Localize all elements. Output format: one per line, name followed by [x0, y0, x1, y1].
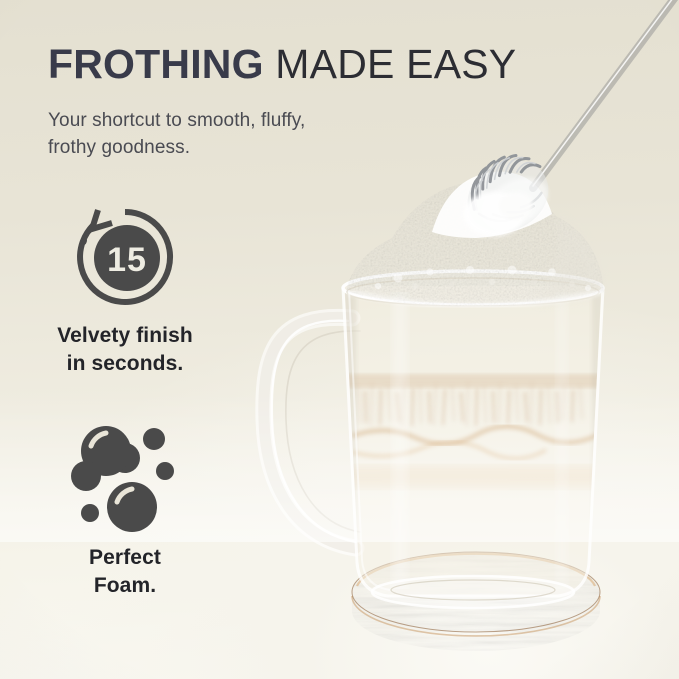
promo-banner: FROTHING MADE EASY Your shortcut to smoo… [0, 0, 679, 679]
subtitle: Your shortcut to smooth, fluffy, frothy … [48, 108, 305, 162]
timer-badge-value: 15 [107, 241, 147, 279]
feature-speed-caption: Velvety finish in seconds. [20, 322, 230, 377]
frother-wand [454, 0, 679, 246]
glass-mug [330, 271, 620, 610]
feature-foam: Perfect Foam. [20, 420, 230, 599]
foam-bubbles-icon [20, 420, 230, 538]
headline-light: MADE EASY [264, 41, 517, 87]
headline-bold: FROTHING [48, 41, 264, 87]
page-title: FROTHING MADE EASY [48, 44, 516, 85]
feature-speed: 15 Velvety finish in seconds. [20, 198, 230, 377]
latte-layers [330, 286, 620, 610]
timer-15-seconds-icon: 15 [20, 198, 230, 316]
feature-foam-caption: Perfect Foam. [20, 544, 230, 599]
